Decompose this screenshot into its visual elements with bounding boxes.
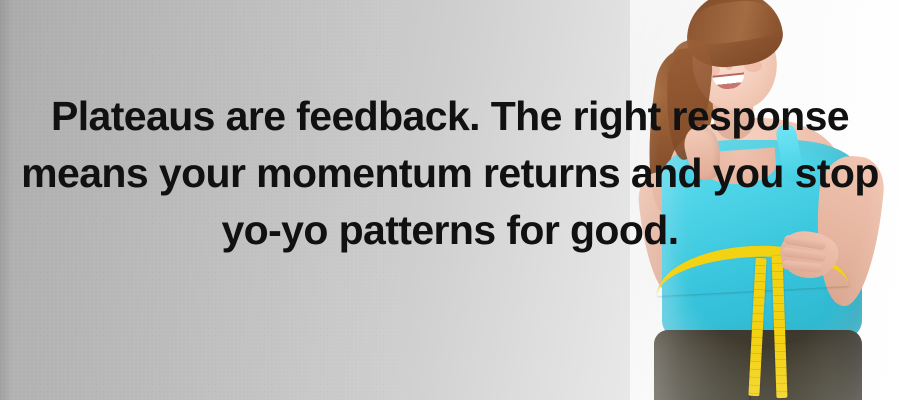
quote-text: Plateaus are feedback. The right respons…: [0, 88, 900, 259]
quote-banner: Plateaus are feedback. The right respons…: [0, 0, 900, 400]
